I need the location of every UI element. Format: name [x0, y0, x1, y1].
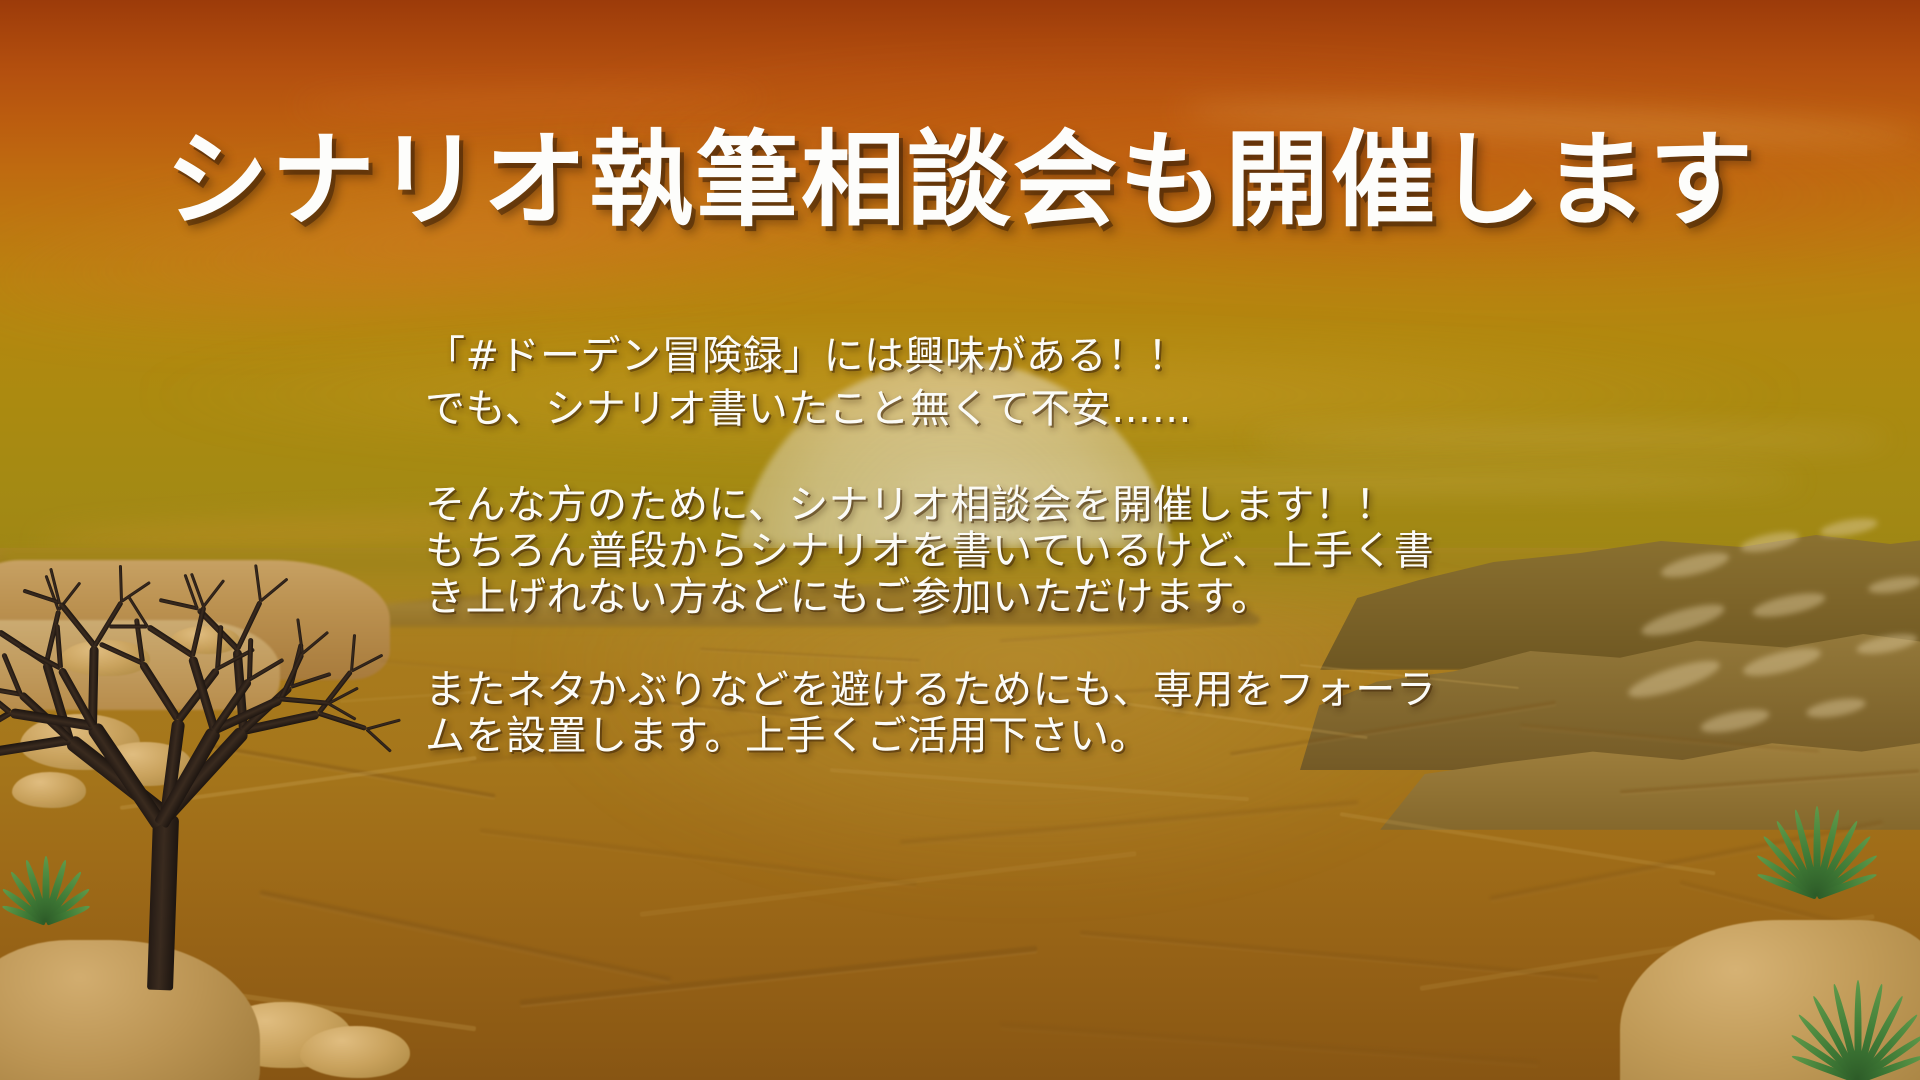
- tree-branch: [98, 641, 143, 665]
- text-line: でも、シナリオ書いたこと無くて不安……: [425, 383, 1605, 436]
- tree-branch: [146, 624, 194, 658]
- tree-branch: [247, 638, 253, 680]
- tree-branch: [55, 624, 63, 668]
- tree-branch: [203, 579, 226, 607]
- text-line: 「#ドーデン冒険録」には興味がある！！: [425, 330, 1605, 383]
- text-line: またネタかぶりなどを避けるためにも、専用をフォーラ: [425, 667, 1605, 713]
- rock: [300, 1026, 410, 1078]
- tree-branch: [0, 735, 70, 758]
- tree-branch: [110, 625, 148, 629]
- text-line: ムを設置します。上手くご活用下さい。: [425, 713, 1605, 759]
- page-title: シナリオ執筆相談会も開催します: [0, 128, 1920, 232]
- text-line: もちろん普段からシナリオを書いているけど、上手く書: [425, 528, 1605, 574]
- desert-plant-right-lower: [1798, 980, 1918, 1080]
- paragraph-offer: そんな方のために、シナリオ相談会を開催します！！もちろん普段からシナリオを書いて…: [425, 482, 1605, 621]
- paragraph-intro: 「#ドーデン冒険録」には興味がある！！でも、シナリオ書いたこと無くて不安……: [425, 330, 1605, 436]
- tree-branch: [248, 658, 285, 682]
- slide-canvas: シナリオ執筆相談会も開催します 「#ドーデン冒険録」には興味がある！！でも、シナ…: [0, 0, 1920, 1080]
- tree-branch: [86, 721, 166, 829]
- desert-plant-right-upper: [1762, 806, 1872, 896]
- tree-branch: [260, 577, 289, 602]
- paragraph-forum: またネタかぶりなどを避けるためにも、専用をフォーラムを設置します。上手くご活用下…: [425, 667, 1605, 760]
- dead-tree: [10, 430, 310, 990]
- text-line: き上げれない方などにもご参加いただけます。: [425, 574, 1605, 620]
- tree-branch: [19, 644, 62, 670]
- text-line: そんな方のために、シナリオ相談会を開催します！！: [425, 482, 1605, 528]
- tree-branch: [58, 601, 97, 648]
- body-text-block: 「#ドーデン冒険録」には興味がある！！でも、シナリオ書いたこと無くて不安……そん…: [425, 330, 1605, 760]
- tree-branch: [139, 661, 182, 722]
- tree-branch: [119, 565, 123, 602]
- tree-branch: [147, 815, 179, 991]
- tree-branch: [254, 564, 262, 601]
- tree-branch: [121, 581, 151, 603]
